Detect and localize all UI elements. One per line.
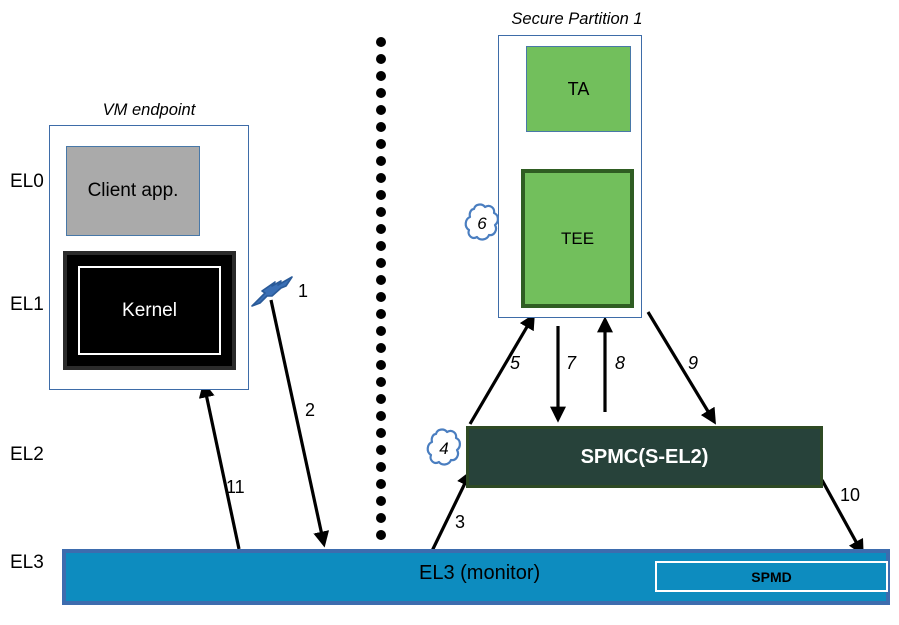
- vm-endpoint-title: VM endpoint: [49, 101, 249, 120]
- el-level-label-el0: EL0: [10, 172, 44, 191]
- tee-box[interactable]: TEE: [521, 169, 634, 308]
- client-app-label: Client app.: [88, 180, 179, 202]
- arrow-label-10: 10: [840, 485, 860, 506]
- el-level-label-el1: EL1: [10, 295, 44, 314]
- kernel-inner-frame: Kernel: [78, 266, 221, 355]
- secure-partition-title: Secure Partition 1: [493, 10, 661, 29]
- diagram-canvas: EL0 EL1 EL2 EL3 VM endpoint Client app. …: [0, 0, 899, 625]
- tee-label: TEE: [561, 229, 594, 249]
- spmd-box[interactable]: SPMD: [655, 561, 888, 592]
- client-app-box[interactable]: Client app.: [66, 146, 200, 236]
- dotted-vertical-divider-icon: [372, 36, 392, 548]
- arrow-label-1: 1: [298, 281, 308, 302]
- arrow-label-2: 2: [305, 400, 315, 421]
- kernel-label: Kernel: [122, 300, 177, 322]
- el3-monitor-label: EL3 (monitor): [419, 562, 540, 585]
- arrow-2: [271, 300, 323, 540]
- spmc-label: SPMC(S-EL2): [581, 446, 709, 469]
- arrow-9: [648, 312, 712, 418]
- arrow-label-3: 3: [455, 512, 465, 533]
- spmd-label: SPMD: [751, 569, 791, 585]
- callout-6: 6: [462, 200, 502, 248]
- arrow-label-9: 9: [688, 353, 698, 374]
- ta-box[interactable]: TA: [526, 46, 631, 132]
- arrow-label-7: 7: [566, 353, 576, 374]
- arrow-label-5: 5: [510, 353, 520, 374]
- arrow-label-11: 11: [226, 477, 245, 498]
- kernel-box[interactable]: Kernel: [63, 251, 236, 370]
- callout-4: 4: [424, 425, 464, 473]
- arrow-label-8: 8: [615, 353, 625, 374]
- ta-label: TA: [568, 79, 590, 100]
- el-level-label-el3: EL3: [10, 553, 44, 572]
- el-level-label-el2: EL2: [10, 445, 44, 464]
- spmc-box[interactable]: SPMC(S-EL2): [466, 426, 823, 488]
- arrow-5: [470, 320, 531, 424]
- arrow-11: [205, 389, 239, 549]
